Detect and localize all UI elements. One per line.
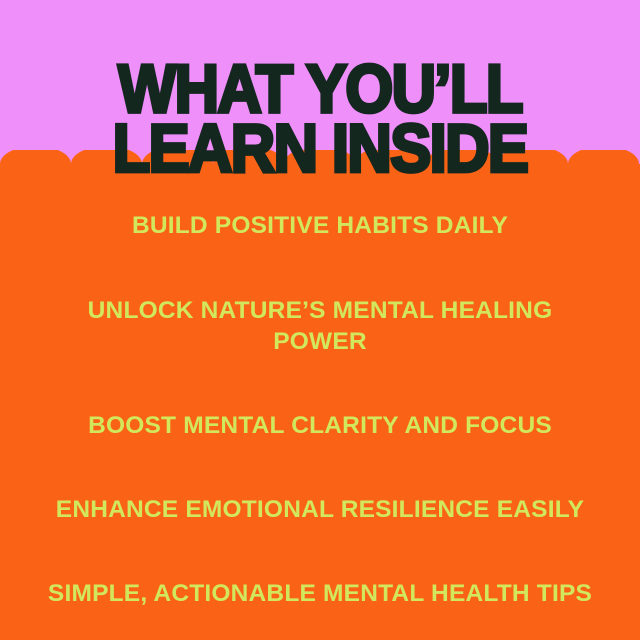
page-title: WHAT YOU’LL LEARN INSIDE (0, 60, 640, 178)
benefits-list: BUILD POSITIVE HABITS DAILY UNLOCK NATUR… (0, 178, 640, 640)
list-item: BOOST MENTAL CLARITY AND FOCUS (20, 410, 620, 441)
header-band: WHAT YOU’LL LEARN INSIDE (0, 0, 640, 150)
list-item: SIMPLE, ACTIONABLE MENTAL HEALTH TIPS (20, 578, 620, 609)
page-title-line-2: LEARN INSIDE (0, 119, 640, 178)
list-item: ENHANCE EMOTIONAL RESILIENCE EASILY (20, 494, 620, 525)
list-item: BUILD POSITIVE HABITS DAILY (20, 210, 620, 241)
poster-canvas: WHAT YOU’LL LEARN INSIDE BUILD POSITIVE … (0, 0, 640, 640)
list-item: UNLOCK NATURE’S MENTAL HEALING POWER (70, 295, 570, 358)
